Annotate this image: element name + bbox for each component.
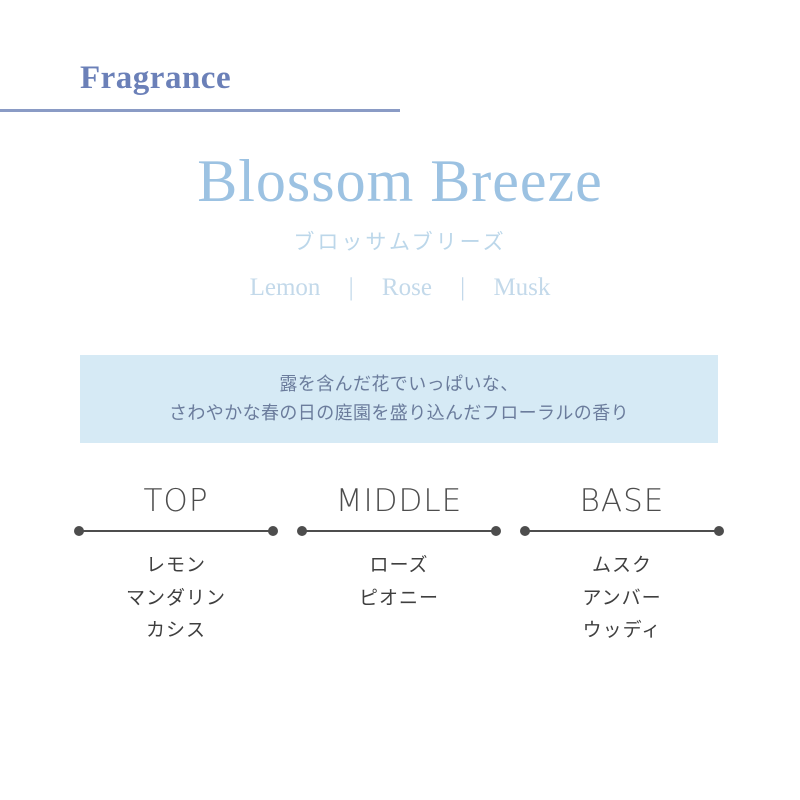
note-column-label-top: TOP (74, 484, 278, 518)
note-rule-base (520, 526, 724, 536)
note-list-base: ムスク アンバー ウッディ (520, 549, 724, 647)
rule-dot-right-icon (268, 526, 278, 536)
header-divider (0, 109, 400, 112)
note-column-middle: MIDDLE ローズ ピオニー (297, 484, 501, 647)
list-item: ピオニー (297, 582, 501, 615)
list-item: カシス (74, 614, 278, 647)
key-note-musk: Musk (493, 274, 550, 301)
description-panel: 露を含んだ花でいっぱいな、 さわやかな春の日の庭園を盛り込んだフローラルの香り (80, 355, 718, 443)
fragrance-pyramid: TOP レモン マンダリン カシス MIDDLE ローズ ピオニー BASE (74, 484, 724, 647)
note-rule-top (74, 526, 278, 536)
key-note-lemon: Lemon (250, 274, 321, 301)
note-rule-middle (297, 526, 501, 536)
key-notes-separator-1: | (327, 272, 376, 305)
list-item: ムスク (520, 549, 724, 582)
list-item: アンバー (520, 582, 724, 615)
list-item: ウッディ (520, 614, 724, 647)
section-header: Fragrance (0, 58, 800, 112)
note-column-base: BASE ムスク アンバー ウッディ (520, 484, 724, 647)
rule-bar (525, 530, 719, 532)
list-item: マンダリン (74, 582, 278, 615)
key-note-rose: Rose (382, 274, 432, 301)
rule-dot-right-icon (491, 526, 501, 536)
product-name-japanese: ブロッサムブリーズ (0, 229, 800, 256)
list-item: レモン (74, 549, 278, 582)
key-notes-separator-2: | (438, 272, 487, 305)
note-column-top: TOP レモン マンダリン カシス (74, 484, 278, 647)
product-name: Blossom Breeze (0, 148, 800, 215)
product-title-block: Blossom Breeze ブロッサムブリーズ Lemon | Rose | … (0, 148, 800, 305)
note-column-label-base: BASE (520, 484, 724, 518)
page-title: Fragrance (80, 58, 800, 99)
list-item: ローズ (297, 549, 501, 582)
note-list-middle: ローズ ピオニー (297, 549, 501, 614)
rule-bar (79, 530, 273, 532)
rule-bar (302, 530, 496, 532)
note-list-top: レモン マンダリン カシス (74, 549, 278, 647)
description-line-1: 露を含んだ花でいっぱいな、 (279, 370, 518, 399)
rule-dot-right-icon (714, 526, 724, 536)
description-line-2: さわやかな春の日の庭園を盛り込んだフローラルの香り (169, 399, 629, 428)
note-column-label-middle: MIDDLE (297, 484, 501, 518)
key-notes-line: Lemon | Rose | Musk (0, 272, 800, 305)
fragrance-card: { "header": { "label": "Fragrance", "rul… (0, 0, 800, 800)
